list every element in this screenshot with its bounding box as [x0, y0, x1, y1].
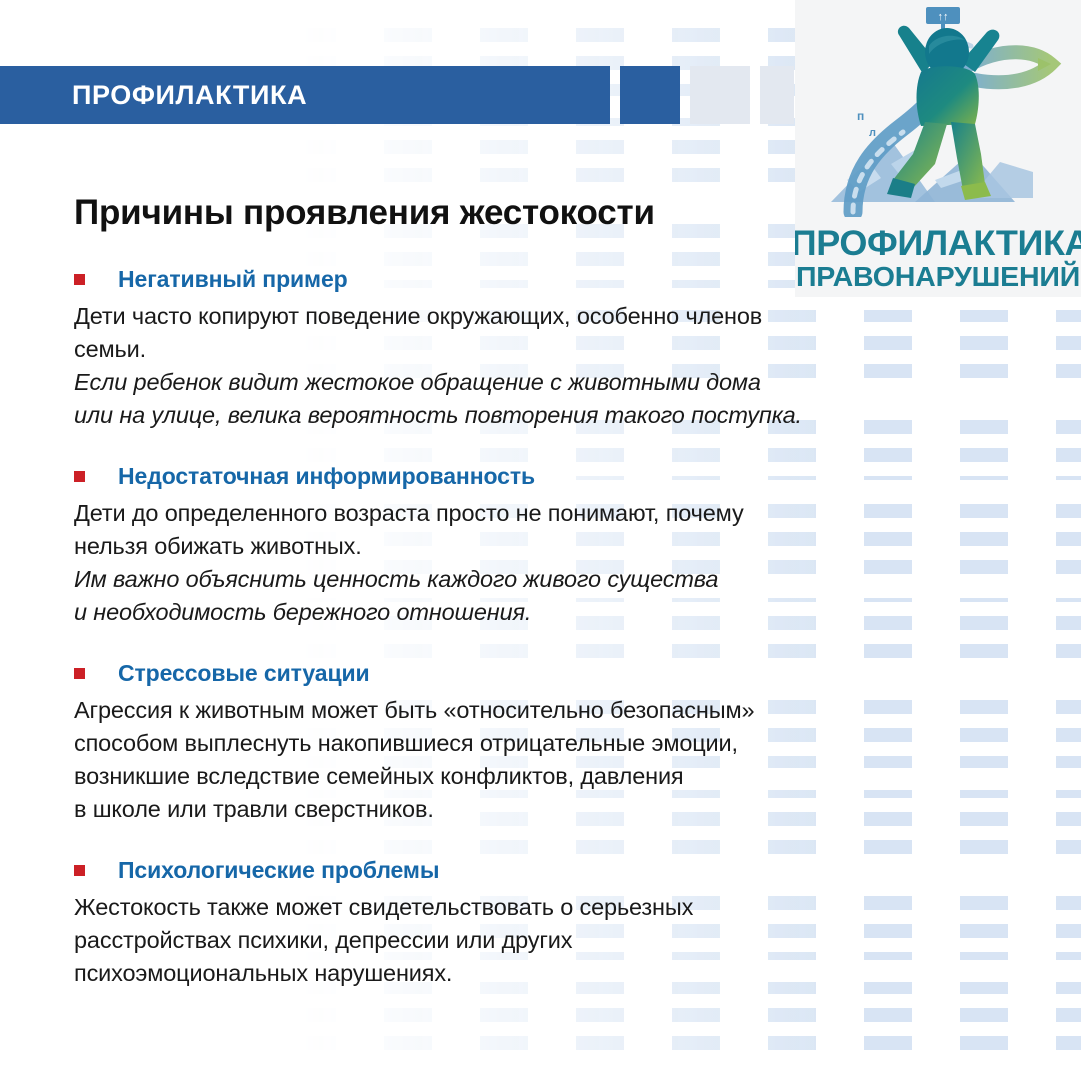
logo-caption-line-2: ПРАВОНАРУШЕНИЙ — [795, 263, 1081, 291]
cause-section: Психологические проблемыЖестокость также… — [0, 853, 1010, 990]
cause-section: Недостаточная информированностьДети до о… — [0, 459, 1010, 629]
svg-text:↑↑: ↑↑ — [938, 11, 949, 23]
cause-text-line: Жестокость также может свидетельствовать… — [74, 891, 1010, 924]
cause-text-line: Если ребенок видит жестокое обращение с … — [74, 366, 1010, 399]
cause-section-header: Стрессовые ситуации — [0, 656, 1010, 690]
page-title: Причины проявления жестокости — [74, 193, 655, 233]
logo-block: ↑↑ п л ПРОФИЛАКТИКА ПРАВОНАРУШЕНИЙ — [795, 0, 1081, 297]
cause-section-header: Недостаточная информированность — [0, 459, 1010, 493]
header-accent-square-gray-2 — [760, 66, 794, 124]
bullet-square-icon — [74, 471, 85, 482]
cause-text-line: способом выплеснуть накопившиеся отрицат… — [74, 727, 1010, 760]
cause-section-title: Стрессовые ситуации — [118, 660, 370, 687]
cause-section-title: Психологические проблемы — [118, 857, 439, 884]
cause-text-line: психоэмоциональных нарушениях. — [74, 957, 1010, 990]
header-title: ПРОФИЛАКТИКА — [0, 80, 307, 111]
cause-section-body: Агрессия к животным может быть «относите… — [0, 694, 1010, 826]
logo-caption-line-1: ПРОФИЛАКТИКА — [795, 226, 1081, 261]
cause-section-header: Психологические проблемы — [0, 853, 1010, 887]
header-accent-square-gray-1 — [690, 66, 750, 124]
cause-text-line: Агрессия к животным может быть «относите… — [74, 694, 1010, 727]
cause-text-line: в школе или травли сверстников. — [74, 793, 1010, 826]
bullet-square-icon — [74, 865, 85, 876]
cause-text-line: возникшие вследствие семейных конфликтов… — [74, 760, 1010, 793]
causes-list: Негативный примерДети часто копируют пов… — [0, 262, 1010, 990]
cause-section-body: Дети часто копируют поведение окружающих… — [0, 300, 1010, 432]
bullet-square-icon — [74, 274, 85, 285]
header-strip: ПРОФИЛАКТИКА — [0, 66, 794, 124]
section-spacer — [0, 432, 1010, 459]
cause-section: Стрессовые ситуацииАгрессия к животным м… — [0, 656, 1010, 826]
svg-text:п: п — [857, 109, 864, 123]
bullet-square-icon — [74, 668, 85, 679]
cause-text-line: расстройствах психики, депрессии или дру… — [74, 924, 1010, 957]
svg-text:л: л — [869, 127, 876, 139]
cause-section-title: Негативный пример — [118, 266, 348, 293]
jumping-person-figure-icon: ↑↑ п л — [795, 2, 1081, 217]
cause-text-line: и необходимость бережного отношения. — [74, 596, 1010, 629]
cause-section-body: Жестокость также может свидетельствовать… — [0, 891, 1010, 990]
cause-text-line: нельзя обижать животных. — [74, 530, 1010, 563]
section-spacer — [0, 826, 1010, 853]
section-spacer — [0, 629, 1010, 656]
cause-text-line: или на улице, велика вероятность повторе… — [74, 399, 1010, 432]
cause-text-line: Дети до определенного возраста просто не… — [74, 497, 1010, 530]
cause-section-body: Дети до определенного возраста просто не… — [0, 497, 1010, 629]
cause-text-line: семьи. — [74, 333, 1010, 366]
cause-text-line: Им важно объяснить ценность каждого живо… — [74, 563, 1010, 596]
cause-section-title: Недостаточная информированность — [118, 463, 535, 490]
header-banner: ПРОФИЛАКТИКА — [0, 66, 610, 124]
header-accent-square-blue — [620, 66, 680, 124]
logo-caption: ПРОФИЛАКТИКА ПРАВОНАРУШЕНИЙ — [795, 226, 1081, 291]
cause-text-line: Дети часто копируют поведение окружающих… — [74, 300, 1010, 333]
